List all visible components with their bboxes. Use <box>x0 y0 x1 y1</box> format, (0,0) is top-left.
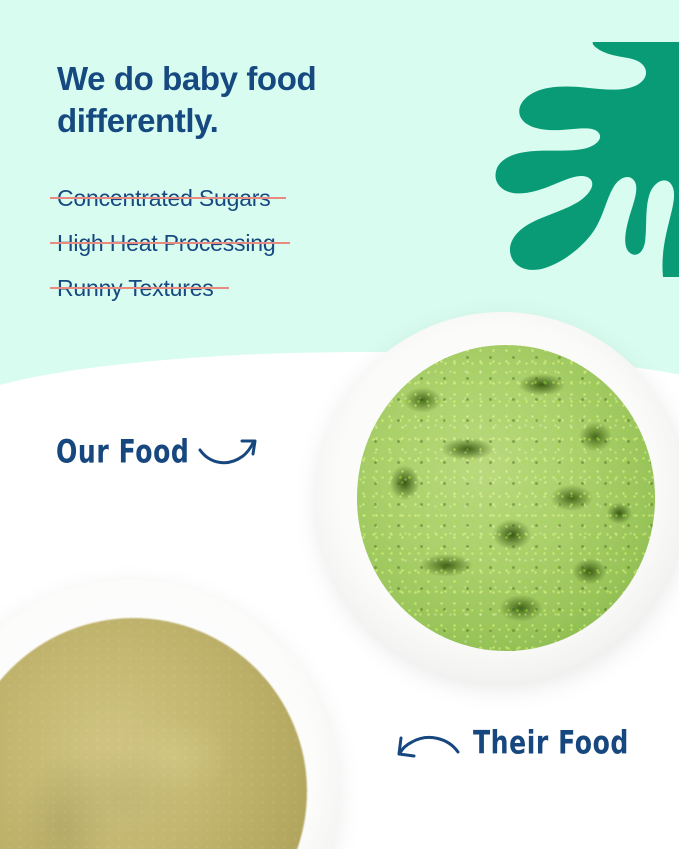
green-puree-speckle-layer-2 <box>357 345 655 650</box>
strikethrough-line <box>50 242 290 244</box>
yellow-puree-texture <box>0 618 307 849</box>
curved-arrow-left-icon <box>392 726 462 766</box>
strikethrough-line <box>50 287 229 289</box>
leaf-icon <box>493 42 679 272</box>
crossed-out-list: Concentrated Sugars High Heat Processing… <box>56 187 486 322</box>
strikethrough-line <box>50 197 286 199</box>
list-item: Concentrated Sugars <box>56 187 486 232</box>
bowl-green-puree <box>316 312 679 684</box>
headline-line-1: We do baby food <box>57 58 477 100</box>
curved-arrow-right-icon <box>198 434 260 472</box>
list-item: Runny Textures <box>56 277 486 322</box>
their-food-label: Their Food <box>473 725 629 762</box>
headline-line-2: differently. <box>57 100 477 142</box>
our-food-label: Our Food <box>56 434 189 471</box>
promo-graphic-canvas: We do baby food differently. Concentrate… <box>0 0 679 849</box>
list-item: High Heat Processing <box>56 232 486 277</box>
green-puree-texture <box>357 345 655 650</box>
yellow-puree-sheen-layer <box>0 618 307 849</box>
page-title: We do baby food differently. <box>57 58 477 141</box>
